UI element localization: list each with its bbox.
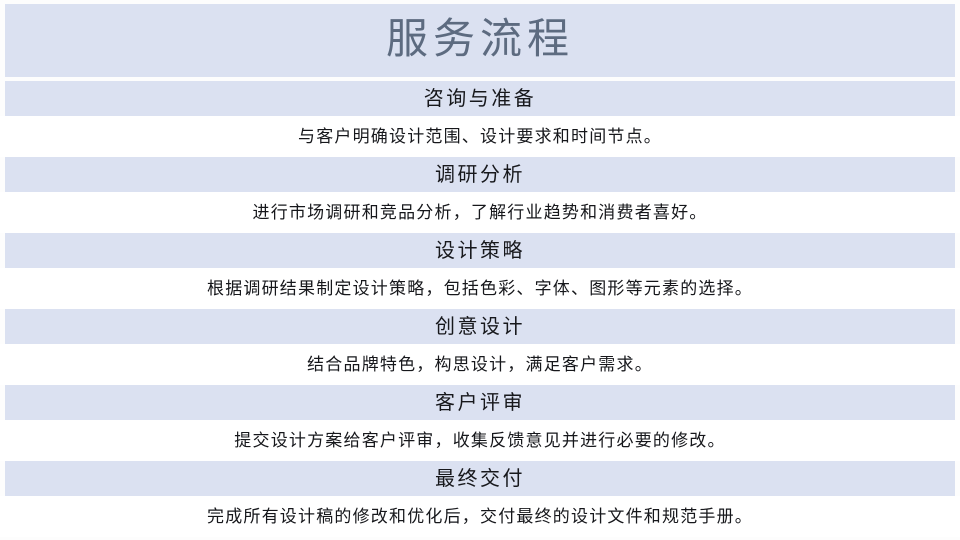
process-step: 咨询与准备 与客户明确设计范围、设计要求和时间节点。 [0, 81, 960, 157]
slide-canvas: 服务流程 咨询与准备 与客户明确设计范围、设计要求和时间节点。 调研分析 进行市… [0, 0, 960, 540]
process-step-body-row: 提交设计方案给客户评审，收集反馈意见并进行必要的修改。 [0, 420, 960, 461]
process-step: 客户评审 提交设计方案给客户评审，收集反馈意见并进行必要的修改。 [0, 385, 960, 461]
process-step-header-band: 调研分析 [5, 157, 955, 192]
process-step-heading: 客户评审 [435, 393, 525, 413]
process-step-description: 结合品牌特色，构思设计，满足客户需求。 [307, 356, 653, 373]
page-title: 服务流程 [386, 19, 574, 61]
process-step-heading: 咨询与准备 [424, 89, 537, 109]
process-step: 最终交付 完成所有设计稿的修改和优化后，交付最终的设计文件和规范手册。 [0, 461, 960, 537]
process-step-list: 咨询与准备 与客户明确设计范围、设计要求和时间节点。 调研分析 进行市场调研和竞… [0, 81, 960, 537]
process-step: 设计策略 根据调研结果制定设计策略，包括色彩、字体、图形等元素的选择。 [0, 233, 960, 309]
process-step-body-row: 完成所有设计稿的修改和优化后，交付最终的设计文件和规范手册。 [0, 496, 960, 537]
process-step-description: 根据调研结果制定设计策略，包括色彩、字体、图形等元素的选择。 [207, 280, 753, 297]
process-step-header-band: 最终交付 [5, 461, 955, 496]
process-step-header-band: 设计策略 [5, 233, 955, 268]
process-step-body-row: 进行市场调研和竞品分析，了解行业趋势和消费者喜好。 [0, 192, 960, 233]
process-step-header-band: 咨询与准备 [5, 81, 955, 116]
process-step-header-band: 创意设计 [5, 309, 955, 344]
process-step-description: 与客户明确设计范围、设计要求和时间节点。 [298, 128, 662, 145]
process-step-description: 提交设计方案给客户评审，收集反馈意见并进行必要的修改。 [234, 432, 725, 449]
process-step: 调研分析 进行市场调研和竞品分析，了解行业趋势和消费者喜好。 [0, 157, 960, 233]
process-step-header-band: 客户评审 [5, 385, 955, 420]
process-step-heading: 调研分析 [435, 165, 525, 185]
process-step-body-row: 结合品牌特色，构思设计，满足客户需求。 [0, 344, 960, 385]
process-step-description: 进行市场调研和竞品分析，了解行业趋势和消费者喜好。 [253, 204, 708, 221]
process-step-heading: 设计策略 [435, 241, 525, 261]
process-step-heading: 创意设计 [435, 317, 525, 337]
process-step-body-row: 根据调研结果制定设计策略，包括色彩、字体、图形等元素的选择。 [0, 268, 960, 309]
process-step-heading: 最终交付 [435, 469, 525, 489]
process-step: 创意设计 结合品牌特色，构思设计，满足客户需求。 [0, 309, 960, 385]
process-step-body-row: 与客户明确设计范围、设计要求和时间节点。 [0, 116, 960, 157]
process-step-description: 完成所有设计稿的修改和优化后，交付最终的设计文件和规范手册。 [207, 508, 753, 525]
slide-title-band: 服务流程 [5, 4, 955, 77]
